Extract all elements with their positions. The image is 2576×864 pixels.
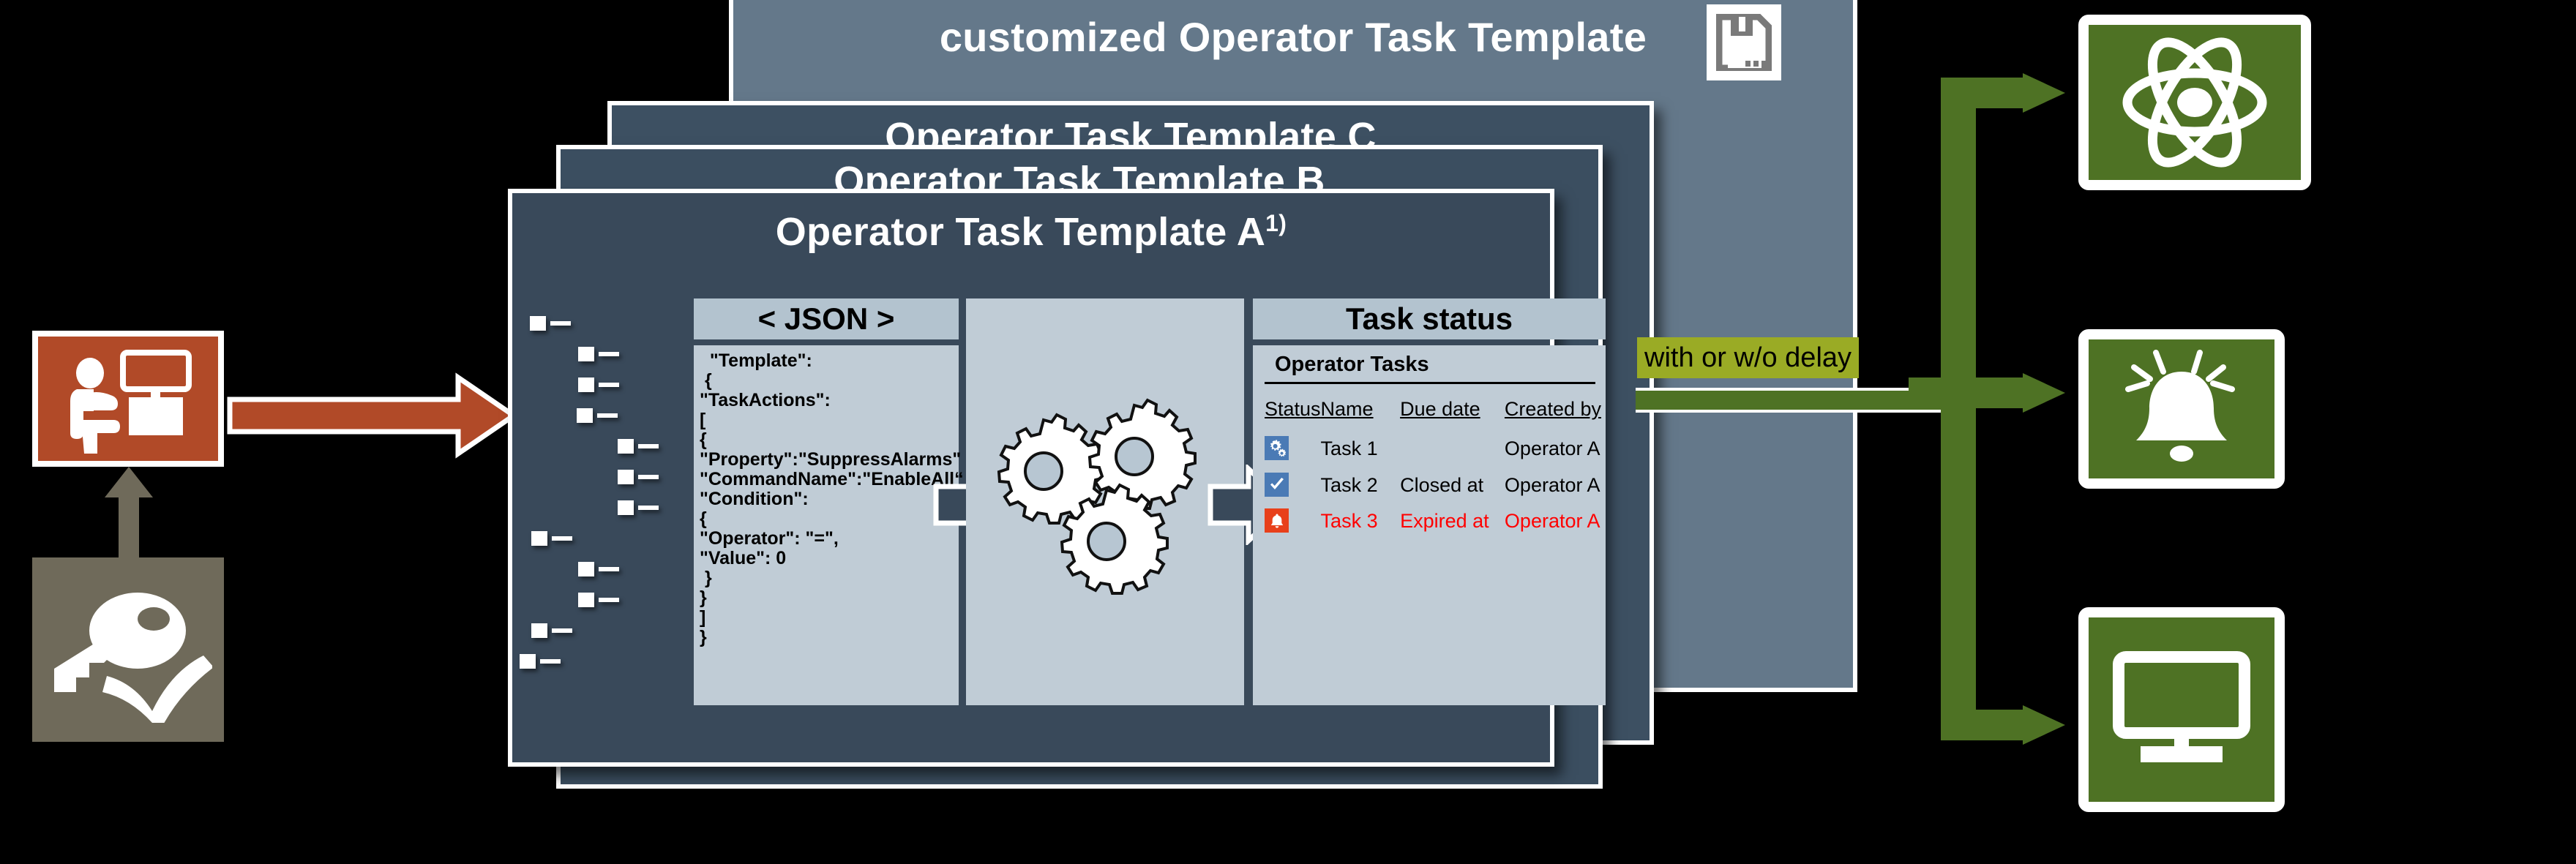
divider bbox=[1265, 382, 1595, 384]
card-title-a: Operator Task Template A1) bbox=[512, 209, 1550, 255]
green-branch-arrows bbox=[1909, 72, 2092, 781]
credentials-tile[interactable] bbox=[32, 557, 224, 742]
card-title-a-superscript: 1) bbox=[1265, 210, 1287, 236]
tree-node-dashes bbox=[638, 444, 659, 448]
operator-workstation-tile[interactable] bbox=[32, 331, 224, 467]
monitor-icon bbox=[2108, 644, 2255, 775]
diagram-canvas: customized Operator Task Template Operat… bbox=[0, 0, 2576, 864]
tree-node-square bbox=[578, 347, 594, 361]
tile-bell[interactable] bbox=[2078, 329, 2285, 489]
template-tree-outline bbox=[530, 316, 688, 689]
tree-node[interactable] bbox=[531, 623, 572, 638]
table-row[interactable]: Task 1 Operator A bbox=[1265, 431, 1601, 467]
column-header-due-date[interactable]: Due date bbox=[1400, 395, 1505, 431]
key-with-checkmark-icon bbox=[44, 576, 212, 723]
cell-created-by: Operator A bbox=[1505, 503, 1601, 540]
cell-due-date: Expired at bbox=[1400, 503, 1505, 540]
bell-icon bbox=[1265, 508, 1289, 533]
operator-tasks-subtitle: Operator Tasks bbox=[1275, 353, 1429, 377]
cell-name: Task 1 bbox=[1321, 431, 1401, 467]
tree-node-dashes bbox=[599, 352, 619, 356]
tree-node-dashes bbox=[550, 321, 571, 326]
tree-node[interactable] bbox=[578, 377, 619, 392]
tree-node-dashes bbox=[552, 536, 572, 541]
card-title-a-text: Operator Task Template A bbox=[776, 210, 1265, 254]
tree-node-square bbox=[577, 408, 593, 423]
cell-status bbox=[1265, 503, 1321, 540]
cell-name: Task 2 bbox=[1321, 467, 1401, 504]
tree-node-square bbox=[531, 623, 547, 638]
red-flow-arrow bbox=[227, 372, 517, 459]
operator-at-workstation-icon bbox=[55, 344, 201, 454]
cell-status bbox=[1265, 431, 1321, 467]
tree-node-square bbox=[578, 593, 594, 607]
cell-due-date: Closed at bbox=[1400, 467, 1505, 504]
ringing-bell-icon bbox=[2112, 347, 2251, 471]
tree-node[interactable] bbox=[618, 439, 659, 454]
tree-node[interactable] bbox=[618, 470, 659, 484]
tree-node[interactable] bbox=[531, 531, 572, 546]
cell-created-by: Operator A bbox=[1505, 431, 1601, 467]
tree-node-dashes bbox=[599, 598, 619, 602]
check-glyph bbox=[1268, 476, 1286, 493]
json-panel-body: "Template": { "TaskActions": [ { "Proper… bbox=[694, 345, 959, 705]
cell-due-date bbox=[1400, 431, 1505, 467]
tree-node-square bbox=[530, 316, 546, 331]
tree-node-dashes bbox=[540, 659, 561, 664]
tree-node[interactable] bbox=[618, 500, 659, 515]
tree-node-square bbox=[520, 654, 536, 669]
tree-node-dashes bbox=[638, 506, 659, 510]
tree-node-dashes bbox=[599, 567, 619, 571]
cell-created-by: Operator A bbox=[1505, 467, 1601, 504]
tree-node-dashes bbox=[599, 383, 619, 387]
table-header-row: Status Name Due date Created by bbox=[1265, 395, 1601, 431]
task-status-header: Task status bbox=[1253, 298, 1606, 339]
up-arrow-icon bbox=[105, 467, 153, 562]
tree-node[interactable] bbox=[578, 562, 619, 576]
column-header-status[interactable]: Status bbox=[1265, 395, 1321, 431]
atom-icon bbox=[2118, 33, 2272, 172]
bell-glyph bbox=[1268, 512, 1286, 530]
json-panel-header: < JSON > bbox=[694, 298, 959, 339]
cell-status bbox=[1265, 467, 1321, 504]
column-header-created-by[interactable]: Created by bbox=[1505, 395, 1601, 431]
save-icon-background bbox=[1707, 4, 1781, 80]
tree-node-square bbox=[578, 377, 594, 392]
tile-screen[interactable] bbox=[2078, 607, 2285, 812]
tree-node[interactable] bbox=[578, 347, 619, 361]
column-header-name[interactable]: Name bbox=[1321, 395, 1401, 431]
tree-node[interactable] bbox=[578, 593, 619, 607]
tree-node[interactable] bbox=[530, 316, 571, 331]
card-title-customized: customized Operator Task Template bbox=[733, 13, 1853, 61]
gears-glyph bbox=[1268, 440, 1286, 457]
tree-node-dashes bbox=[552, 628, 572, 633]
tree-node-dashes bbox=[597, 413, 618, 418]
cell-name: Task 3 bbox=[1321, 503, 1401, 540]
table-row[interactable]: Task 3 Expired at Operator A bbox=[1265, 503, 1601, 540]
json-content: "Template": { "TaskActions": [ { "Proper… bbox=[697, 351, 959, 647]
operator-tasks-table: Status Name Due date Created by bbox=[1265, 395, 1601, 540]
tree-node-square bbox=[531, 531, 547, 546]
green-feed-line bbox=[1636, 388, 1943, 413]
tree-node-square bbox=[618, 470, 634, 484]
tree-node-square bbox=[618, 500, 634, 515]
floppy-disk-save-icon[interactable] bbox=[1716, 14, 1772, 71]
tree-node-square bbox=[578, 562, 594, 576]
tree-node-dashes bbox=[638, 475, 659, 479]
tree-node-square bbox=[618, 439, 634, 454]
tree-node[interactable] bbox=[520, 654, 561, 669]
gears-icon bbox=[1265, 436, 1289, 460]
tree-node[interactable] bbox=[577, 408, 618, 423]
tile-atom[interactable] bbox=[2078, 15, 2311, 190]
check-icon bbox=[1265, 473, 1289, 497]
three-gears-icon bbox=[981, 394, 1222, 613]
delay-label: with or w/o delay bbox=[1637, 337, 1859, 378]
table-row[interactable]: Task 2 Closed at Operator A bbox=[1265, 467, 1601, 504]
